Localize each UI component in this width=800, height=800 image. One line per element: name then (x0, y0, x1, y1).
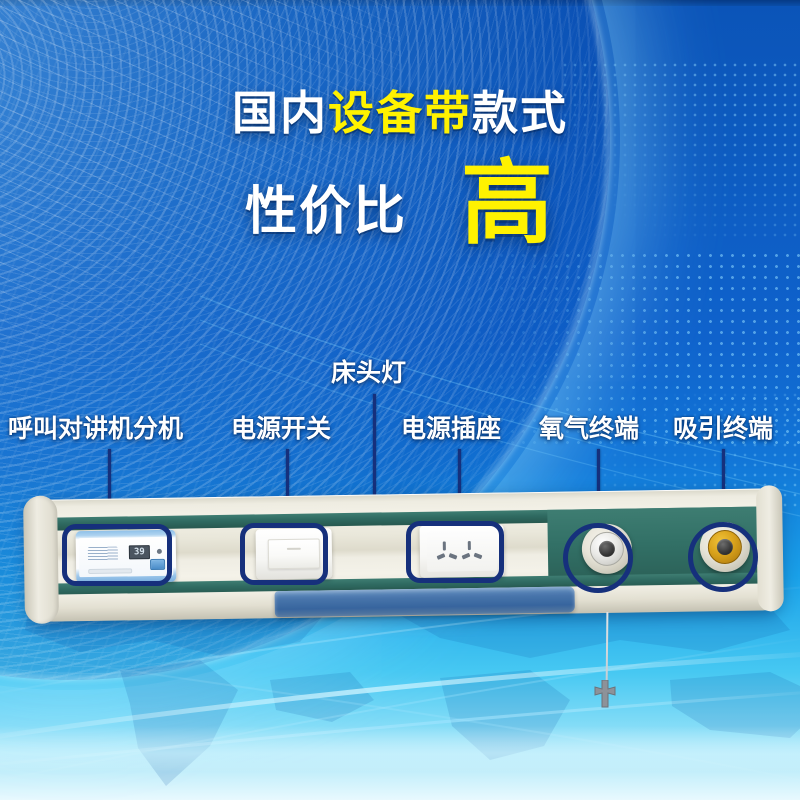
intercom-label-slot (88, 568, 132, 574)
socket-pin-icon (443, 541, 446, 550)
switch-mark-icon (287, 548, 301, 550)
pull-cord-handle-icon[interactable] (588, 680, 622, 710)
speaker-grille-icon (88, 547, 118, 561)
equipment-panel-region: 39 (0, 0, 800, 800)
socket-pin-icon (462, 553, 471, 560)
promo-banner: 国内设备带款式 性价比 高 呼叫对讲机分机 电源开关 床头灯 电源插座 氧气终端… (0, 0, 800, 800)
nurse-call-intercom[interactable]: 39 (76, 530, 177, 584)
socket-pin-icon (437, 553, 446, 560)
intercom-call-button[interactable] (150, 559, 165, 570)
socket-pin-icon (449, 553, 458, 560)
suction-terminal-ring (708, 530, 743, 565)
power-socket[interactable] (420, 525, 505, 578)
suction-terminal-core (717, 539, 733, 555)
medical-equipment-panel: 39 (27, 488, 781, 620)
socket-faceplate (427, 531, 498, 572)
pull-cord[interactable] (606, 612, 609, 688)
socket-pin-icon (474, 553, 483, 560)
panel-end-cap-left (23, 496, 59, 625)
intercom-faceplate: 39 (79, 537, 174, 577)
bed-lamp-light-strip (275, 586, 575, 617)
panel-end-cap-right (756, 485, 784, 611)
intercom-display: 39 (129, 545, 150, 559)
socket-pin-icon (468, 541, 471, 550)
indicator-led-icon (157, 549, 162, 554)
switch-rocker[interactable] (268, 538, 320, 569)
power-switch[interactable] (256, 528, 333, 579)
oxygen-terminal-core (599, 541, 615, 557)
oxygen-terminal-ring (590, 532, 625, 567)
